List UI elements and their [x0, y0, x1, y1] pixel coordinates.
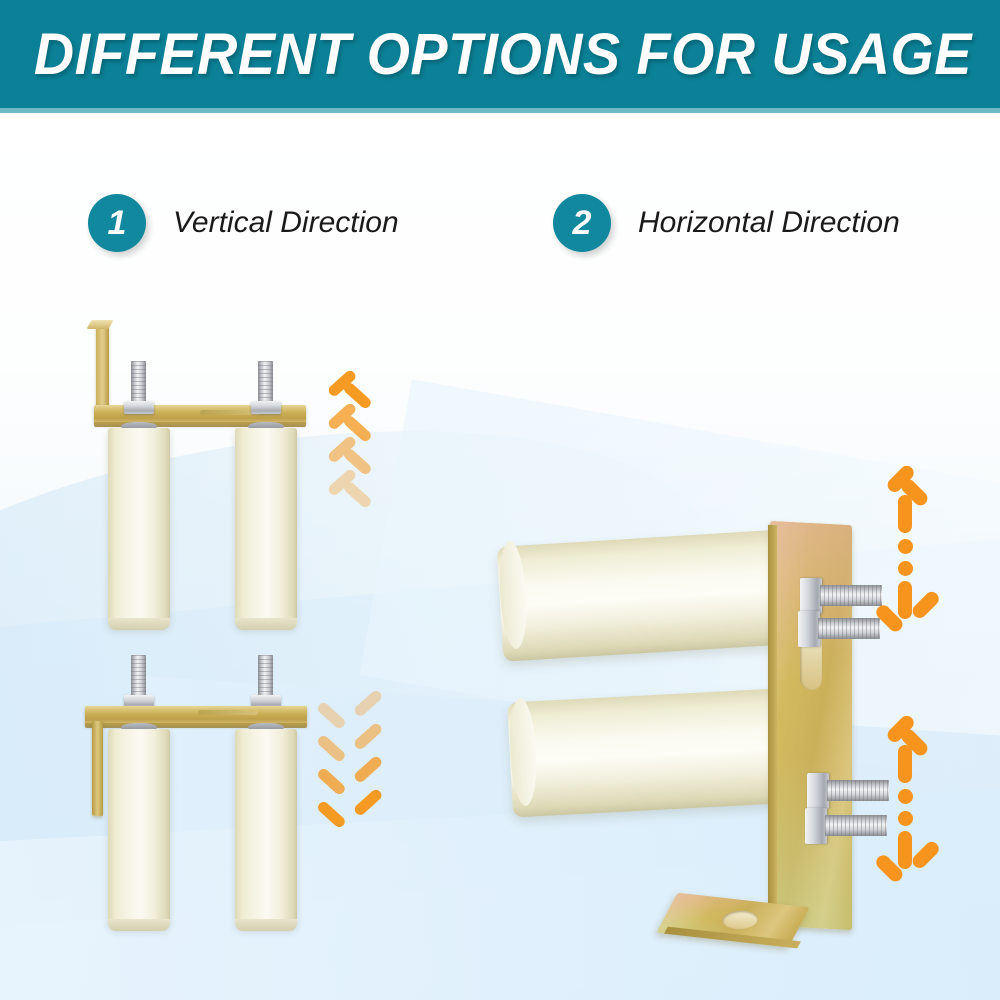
double-arrow-lower — [872, 723, 938, 863]
hex-nut-7 — [807, 773, 829, 809]
nylon-roller-6 — [507, 687, 803, 817]
page-header-banner: DIFFERENT OPTIONS FOR USAGE — [0, 0, 1000, 108]
bolt-shaft-2 — [258, 361, 273, 406]
bracket-bar-slot-2 — [198, 710, 258, 715]
nylon-roller-3-bottom — [108, 919, 170, 931]
chevron-down-2 — [318, 731, 376, 761]
product-horizontal — [470, 413, 910, 953]
bracket-vertical-leg-top — [86, 320, 113, 329]
bolt-shaft-1 — [131, 361, 146, 406]
nylon-roller-4 — [235, 729, 297, 929]
nylon-roller-1 — [108, 428, 170, 628]
arrow-dot-1 — [898, 539, 913, 554]
hex-nut-1 — [124, 401, 154, 414]
step-1-label: Vertical Direction — [173, 206, 399, 240]
step-2-heading: 2 Horizontal Direction — [553, 194, 900, 252]
page-title: DIFFERENT OPTIONS FOR USAGE — [20, 21, 980, 88]
chevron-up-4 — [318, 477, 376, 507]
chevron-down-4 — [318, 797, 376, 827]
hex-nut-5 — [800, 578, 822, 614]
content-stage: 1 Vertical Direction 2 Horizontal Direct… — [0, 113, 1000, 1000]
step-1-heading: 1 Vertical Direction — [88, 194, 399, 252]
bolt-shaft-6 — [818, 618, 880, 639]
step-1-badge: 1 — [88, 194, 146, 252]
arrow-dot-4 — [898, 811, 913, 826]
arrow-head-down-1 — [877, 599, 933, 629]
hex-nut-2 — [251, 401, 281, 414]
nylon-roller-1-bottom — [108, 618, 170, 630]
hex-nut-8 — [805, 808, 827, 844]
step-2-badge: 2 — [553, 194, 611, 252]
arrow-dot-2 — [898, 561, 913, 576]
nylon-roller-2-bottom — [235, 618, 297, 630]
bracket-vertical-leg-2 — [92, 721, 103, 817]
nylon-roller-4-bottom — [235, 919, 297, 931]
arrow-stem-up-1 — [898, 495, 912, 533]
bracket-vertical-leg — [96, 323, 109, 416]
double-arrow-upper — [872, 473, 938, 613]
bolt-shaft-4 — [258, 655, 273, 700]
arrow-stem-up-2 — [898, 745, 912, 783]
chevron-down-3 — [318, 764, 376, 794]
nylon-roller-3 — [108, 729, 170, 929]
arrow-head-down-2 — [877, 849, 933, 879]
step-2-label: Horizontal Direction — [638, 206, 900, 240]
chevron-down-1 — [318, 698, 376, 728]
bolt-shaft-3 — [131, 655, 146, 700]
nylon-roller-2 — [235, 428, 297, 628]
nylon-roller-5 — [497, 529, 793, 661]
hex-nut-6 — [798, 611, 820, 647]
mounting-plate-edge — [768, 525, 777, 927]
arrow-dot-3 — [898, 789, 913, 804]
